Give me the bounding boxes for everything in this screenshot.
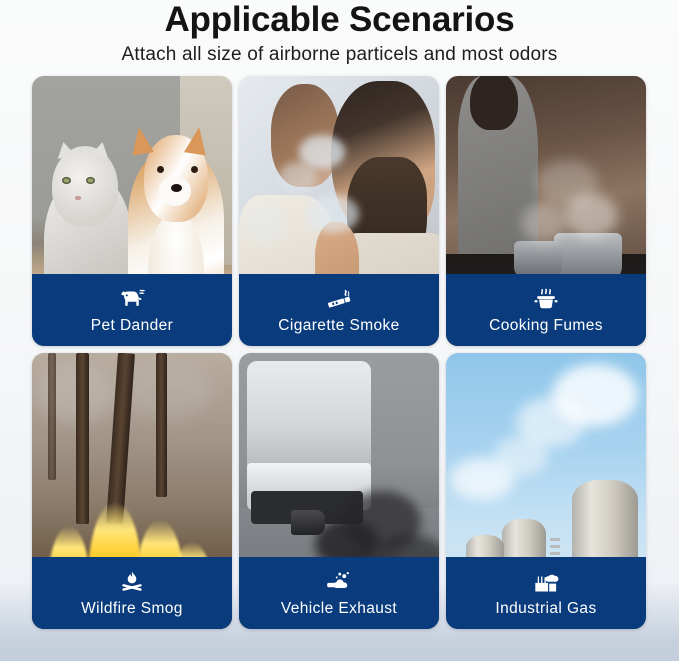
page-subtitle: Attach all size of airborne particels an… <box>0 39 679 67</box>
campfire-icon <box>117 569 147 596</box>
wildfire-smog-label-bar: Wildfire Smog <box>32 557 232 629</box>
scenario-label: Wildfire Smog <box>81 600 183 617</box>
cigarette-icon <box>324 286 354 313</box>
industrial-gas-label-bar: Industrial Gas <box>446 557 646 629</box>
scenario-label: Pet Dander <box>91 317 173 334</box>
scenario-label: Cigarette Smoke <box>278 317 399 334</box>
scenario-label: Vehicle Exhaust <box>281 600 397 617</box>
vehicle-exhaust-label-bar: Vehicle Exhaust <box>239 557 439 629</box>
scenario-label: Industrial Gas <box>495 600 596 617</box>
page-title: Applicable Scenarios <box>0 0 679 39</box>
scenario-card-vehicle-exhaust[interactable]: Vehicle Exhaust <box>239 353 439 629</box>
dog-dander-icon <box>117 286 147 313</box>
scenario-card-cooking-fumes[interactable]: Cooking Fumes <box>446 76 646 346</box>
scenario-card-industrial-gas[interactable]: Industrial Gas <box>446 353 646 629</box>
cigarette-smoke-label-bar: Cigarette Smoke <box>239 274 439 346</box>
scenario-card-cigarette-smoke[interactable]: Cigarette Smoke <box>239 76 439 346</box>
applicable-scenarios-page: Applicable Scenarios Attach all size of … <box>0 0 679 661</box>
pet-dander-label-bar: Pet Dander <box>32 274 232 346</box>
scenario-label: Cooking Fumes <box>489 317 603 334</box>
cooking-fumes-label-bar: Cooking Fumes <box>446 274 646 346</box>
scenario-card-pet-dander[interactable]: Pet Dander <box>32 76 232 346</box>
exhaust-pipe-icon <box>324 569 354 596</box>
page-header: Applicable Scenarios Attach all size of … <box>0 0 679 67</box>
factory-icon <box>531 569 561 596</box>
scenario-grid: Pet Dander <box>32 76 647 629</box>
scenario-card-wildfire-smog[interactable]: Wildfire Smog <box>32 353 232 629</box>
steaming-pot-icon <box>531 286 561 313</box>
